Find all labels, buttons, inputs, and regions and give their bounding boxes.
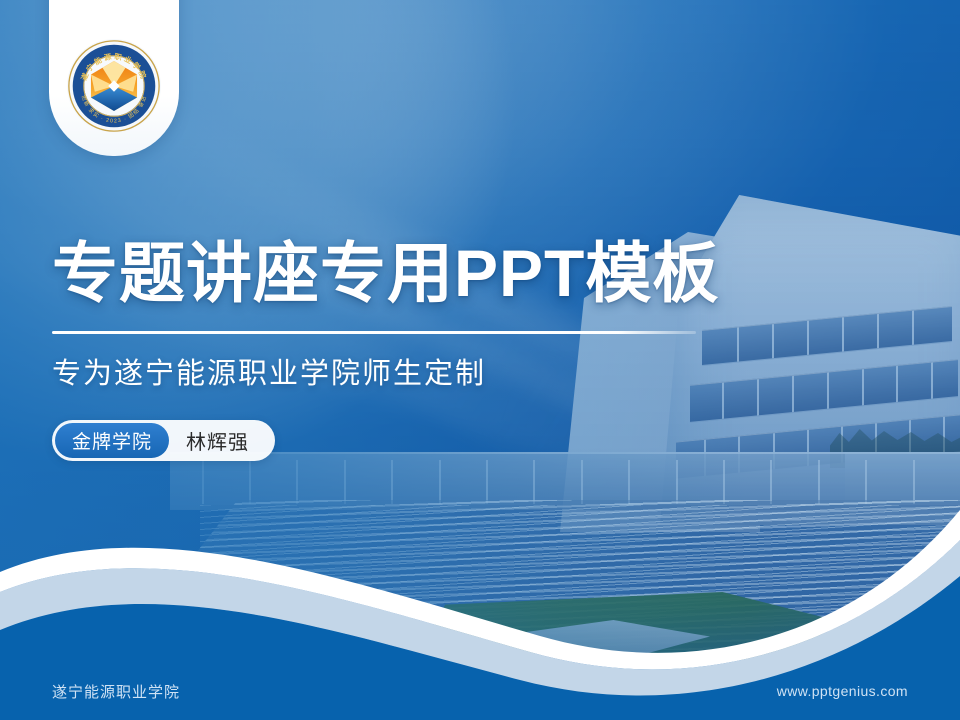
credential-badge: 金牌学院 林辉强: [52, 420, 275, 461]
title-divider: [52, 331, 696, 334]
footer-institution: 遂宁能源职业学院: [52, 681, 180, 702]
badge-author-name: 林辉强: [169, 426, 255, 455]
presentation-slide: 遂宁能源职业学院 创新 求实 · 2023 · 团结 奋进 专题讲座专用PPT模…: [0, 0, 960, 720]
badge-tag-label: 金牌学院: [55, 423, 169, 458]
footer-website: www.pptgenius.com: [777, 683, 908, 699]
page-title: 专题讲座专用PPT模板: [52, 240, 719, 306]
page-subtitle: 专为遂宁能源职业学院师生定制: [52, 350, 486, 392]
logo-tab: 遂宁能源职业学院 创新 求实 · 2023 · 团结 奋进: [49, 0, 179, 156]
college-emblem-icon: 遂宁能源职业学院 创新 求实 · 2023 · 团结 奋进: [66, 38, 162, 134]
